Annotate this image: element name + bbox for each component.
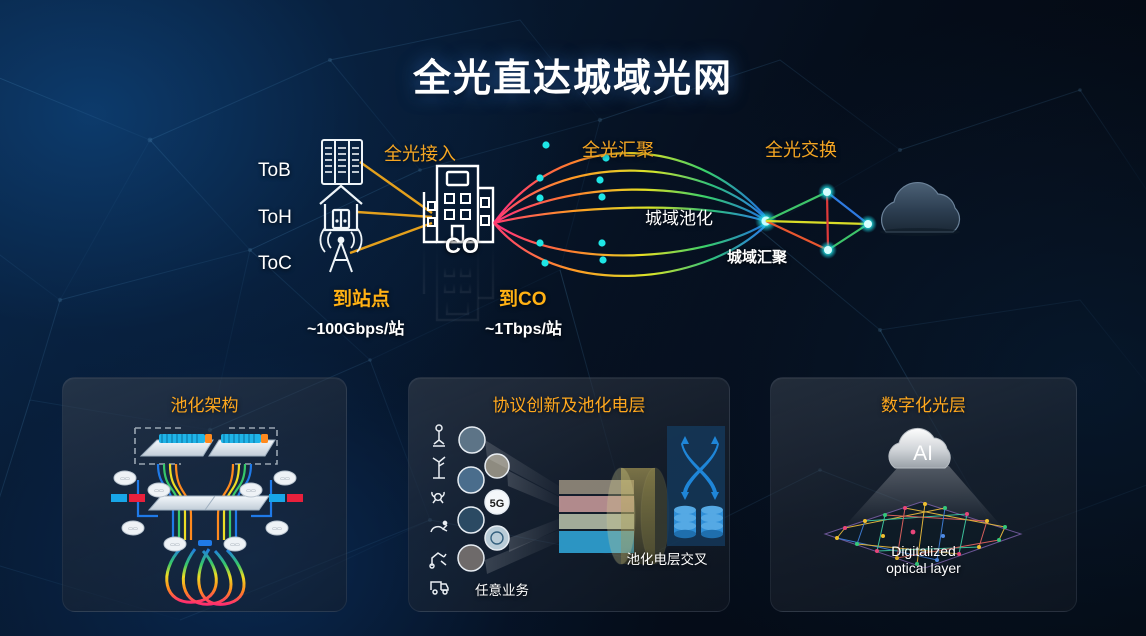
svg-text:5G: 5G	[490, 498, 505, 510]
card3-caption-line2: optical layer	[771, 560, 1076, 577]
pooling-architecture-graphic: ▭▭▭▭ ▭▭▭▭ ▭▭▭▭ ▭▭▭▭	[63, 420, 346, 610]
svg-text:▭▭: ▭▭	[120, 476, 130, 482]
optical-switch-mesh	[766, 192, 868, 250]
card-pooling-architecture[interactable]: 池化架构	[62, 377, 347, 612]
card-protocol-innovation[interactable]: 协议创新及池化电层	[408, 377, 730, 612]
svg-text:▭▭: ▭▭	[272, 526, 282, 532]
network-architecture-diagram: ToB ToH ToC 全光接入 全光汇聚 全光交换 CO 城域池化 城域汇聚 …	[0, 120, 1146, 350]
svg-text:▭▭: ▭▭	[170, 542, 180, 548]
svg-text:▭▭: ▭▭	[280, 476, 290, 482]
cloud-icon	[880, 183, 960, 236]
ai-cloud-label: AI	[913, 442, 933, 465]
metric-to-co-value: ~1Tbps/站	[485, 315, 562, 339]
card3-caption-line1: Digitalized	[771, 543, 1076, 560]
card2-caption-services: 任意业务	[447, 579, 557, 599]
ai-cloud-icon: AI	[889, 428, 950, 468]
svg-text:▭▭: ▭▭	[246, 488, 256, 494]
diagram-canvas	[0, 120, 1146, 350]
office-building-icon	[322, 140, 362, 184]
metro-pooling-label: 城域池化	[645, 204, 713, 229]
stage-label-switch: 全光交换	[765, 136, 837, 162]
stage-label-aggregate: 全光汇聚	[582, 136, 654, 162]
svg-text:▭▭: ▭▭	[230, 542, 240, 548]
page-title: 全光直达城域光网	[0, 47, 1146, 102]
service-thumbnails: 5G	[458, 427, 509, 571]
card2-title: 协议创新及池化电层	[409, 391, 729, 416]
slide-root: 全光直达城域光网	[0, 0, 1146, 636]
card1-title: 池化架构	[63, 391, 346, 416]
metro-pooling-links	[494, 153, 765, 276]
pooled-cross-connect-panel	[667, 426, 725, 546]
svg-text:▭▭: ▭▭	[154, 488, 164, 494]
tier-label-tob: ToB	[258, 160, 291, 182]
house-icon	[320, 186, 362, 230]
metric-to-co-title: 到CO	[499, 284, 547, 311]
metric-to-site-value: ~100Gbps/站	[307, 315, 404, 339]
co-label: CO	[445, 233, 480, 259]
metro-aggregation-label: 城域汇聚	[727, 246, 787, 267]
tier-label-toh: ToH	[258, 207, 292, 229]
card3-title: 数字化光层	[771, 391, 1076, 416]
svg-text:▭▭: ▭▭	[128, 526, 138, 532]
metric-to-site-title: 到站点	[333, 284, 390, 311]
central-office-building-icon	[424, 166, 493, 242]
stage-label-access: 全光接入	[384, 140, 456, 166]
service-icons-column	[430, 425, 448, 594]
tier-label-toc: ToC	[258, 253, 292, 275]
card2-caption-crossconnect: 池化电层交叉	[605, 548, 729, 568]
card-digital-optical-layer[interactable]: 数字化光层 AI	[770, 377, 1077, 612]
